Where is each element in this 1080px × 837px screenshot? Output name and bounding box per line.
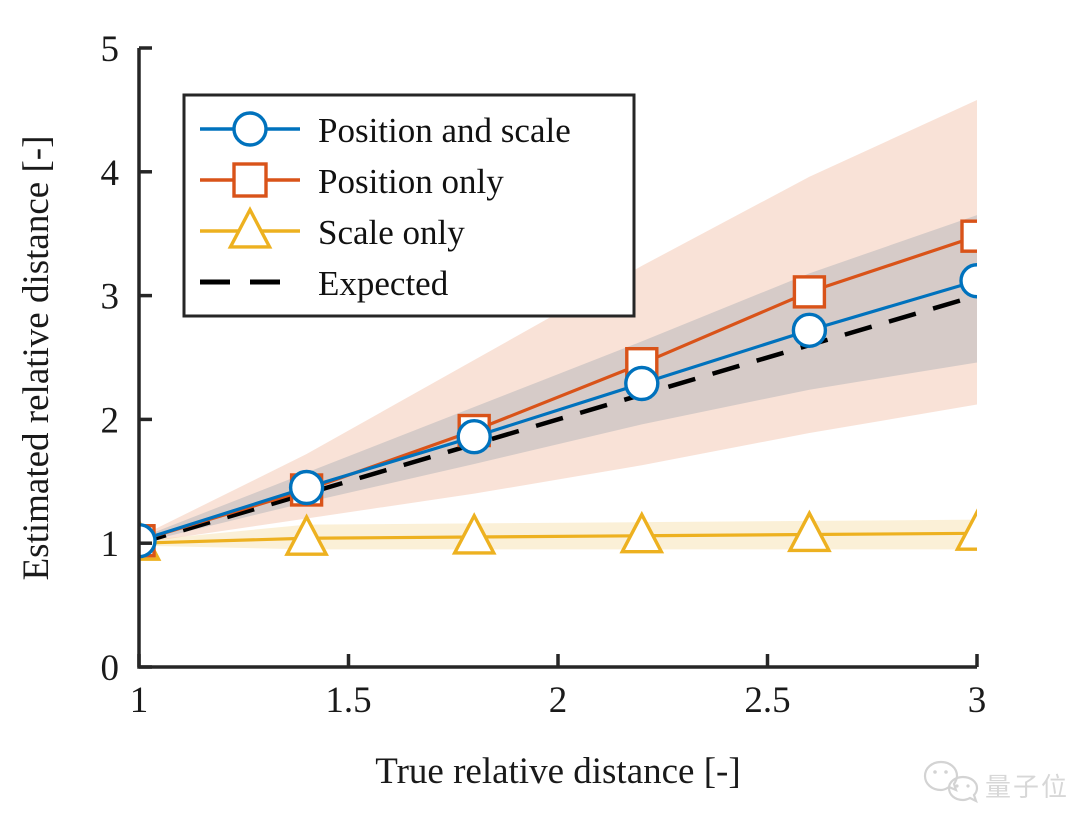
y-tick-label: 4 <box>101 153 120 194</box>
x-axis-label: True relative distance [-] <box>375 751 740 792</box>
data-marker <box>793 314 825 346</box>
y-tick-label: 3 <box>101 277 120 318</box>
legend-entry: Position and scale <box>200 111 571 150</box>
y-tick-label: 0 <box>101 648 120 689</box>
data-marker <box>234 113 266 145</box>
y-tick-label: 2 <box>101 400 120 441</box>
legend-label: Position only <box>318 162 504 201</box>
legend-label: Position and scale <box>318 111 571 150</box>
x-tick-label: 3 <box>968 680 987 721</box>
watermark-label: 量子位 <box>985 772 1069 802</box>
legend: Position and scalePosition onlyScale onl… <box>184 95 634 316</box>
data-marker <box>458 421 490 453</box>
x-tick-label: 2 <box>549 680 568 721</box>
legend-entry: Position only <box>200 162 504 201</box>
data-marker <box>794 277 824 307</box>
y-axis-label: Estimated relative distance [-] <box>16 136 57 581</box>
chart-figure: 012345 11.522.53 True relative distance … <box>0 0 1080 837</box>
data-marker <box>234 164 266 196</box>
x-tick-label: 1 <box>130 680 149 721</box>
x-tick-label: 2.5 <box>744 680 790 721</box>
data-marker <box>626 367 658 399</box>
legend-label: Scale only <box>318 213 465 252</box>
data-marker <box>291 471 323 503</box>
x-tick-label: 1.5 <box>325 680 371 721</box>
legend-label: Expected <box>318 264 449 303</box>
y-tick-label: 1 <box>101 524 120 565</box>
y-tick-label: 5 <box>101 29 120 70</box>
